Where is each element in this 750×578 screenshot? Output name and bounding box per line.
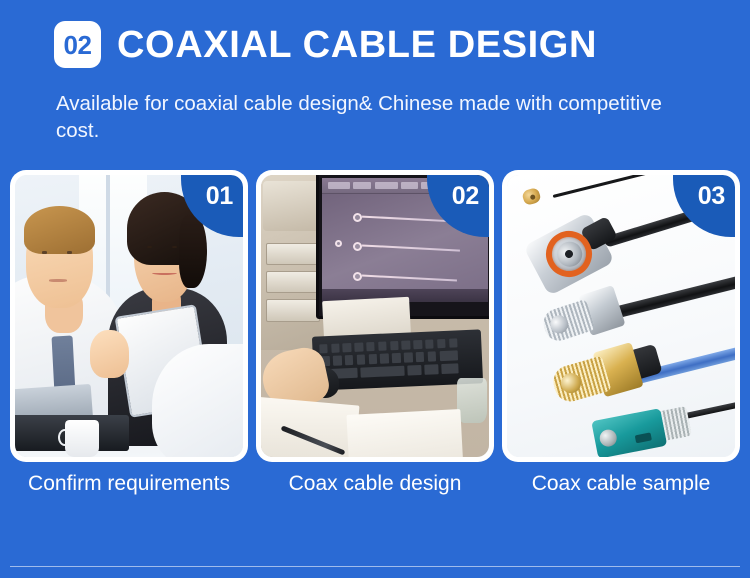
page-subtitle: Available for coaxial cable design& Chin… (56, 90, 696, 145)
card-caption-3: Coax cable sample (502, 470, 740, 498)
card-photo-confirm-requirements: 01 (15, 175, 243, 457)
ipex-connector (521, 187, 542, 207)
card-photo-coax-cable-sample: 03 (507, 175, 735, 457)
page-title: COAXIAL CABLE DESIGN (117, 26, 597, 64)
bulkhead-connector (523, 212, 615, 296)
card-badge-2-text: 02 (452, 175, 489, 209)
card-caption-2: Coax cable design (256, 470, 494, 498)
step-number-text: 02 (64, 32, 92, 58)
fakra-connector (591, 403, 692, 457)
step-number-badge: 02 (54, 21, 101, 68)
process-card-2[interactable]: 02 (256, 170, 494, 462)
sma-connector-silver (539, 285, 626, 349)
card-badge-1-text: 01 (206, 175, 243, 209)
process-card-3[interactable]: 03 (502, 170, 740, 462)
card-photo-coax-cable-design: 02 (261, 175, 489, 457)
caption-row: Confirm requirements Coax cable design C… (0, 470, 750, 498)
title-row: 02 COAXIAL CABLE DESIGN (54, 21, 597, 68)
card-caption-1: Confirm requirements (10, 470, 248, 498)
header: 02 COAXIAL CABLE DESIGN Available for co… (0, 0, 750, 160)
bottom-divider (10, 566, 740, 567)
process-card-1[interactable]: 01 (10, 170, 248, 462)
coaxial-cable-design-banner: 02 COAXIAL CABLE DESIGN Available for co… (0, 0, 750, 578)
card-badge-3-text: 03 (698, 175, 735, 209)
sma-connector-gold (548, 342, 643, 410)
card-row: 01 (0, 170, 750, 462)
